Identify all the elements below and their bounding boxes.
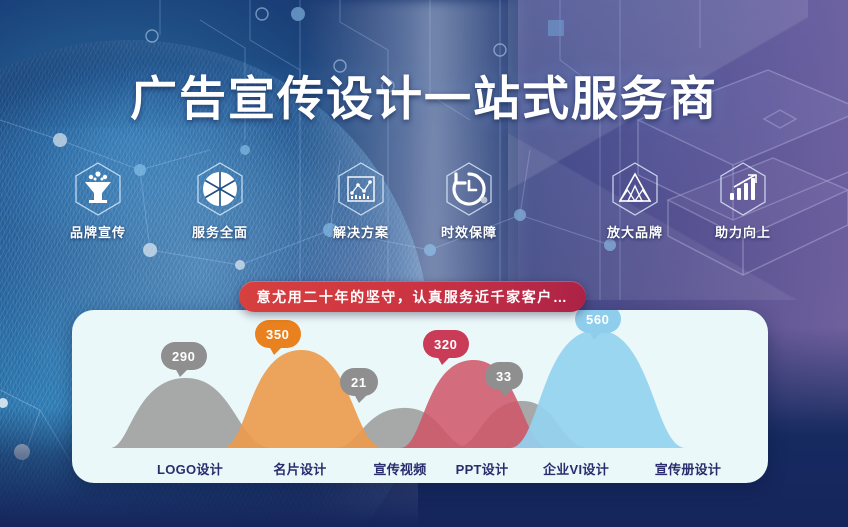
- page-title: 广告宣传设计一站式服务商: [0, 60, 848, 129]
- pyramid-icon: [592, 158, 678, 220]
- feature-item-growth[interactable]: 助力向上: [700, 158, 786, 241]
- feature-icon-row: 品牌宣传: [0, 158, 848, 248]
- value-bubble-2: 21: [340, 368, 378, 396]
- feature-label: 服务全面: [177, 222, 263, 241]
- feature-label: 时效保障: [426, 222, 512, 241]
- feature-label: 放大品牌: [592, 222, 678, 241]
- circuit-network-icon: [0, 0, 848, 300]
- banner-stage: 广告宣传设计一站式服务商 品牌宣传: [0, 0, 848, 527]
- x-label-3: PPT设计: [442, 459, 522, 478]
- x-label-4: 企业VI设计: [528, 459, 624, 478]
- line-chart-icon: [318, 158, 404, 220]
- x-label-0: LOGO设计: [150, 459, 230, 478]
- value-bubble-1: 350: [255, 320, 301, 348]
- bump-5: [510, 330, 686, 448]
- slogan-banner: 意尤用二十年的坚守，认真服务近千家客户…: [239, 281, 586, 312]
- clock-history-icon: [426, 158, 512, 220]
- feature-label: 解决方案: [318, 222, 404, 241]
- bump-chart-svg: [72, 310, 768, 450]
- value-bubble-0: 290: [161, 342, 207, 370]
- feature-item-timeliness[interactable]: 时效保障: [426, 158, 512, 241]
- x-label-2: 宣传视频: [360, 459, 440, 478]
- chart-card: 290 350 21 320 33 560 LOGO设计 名片设计 宣传视频 P…: [72, 310, 768, 483]
- value-bubble-5: 560: [575, 310, 621, 333]
- feature-label: 品牌宣传: [55, 222, 141, 241]
- x-label-5: 宣传册设计: [640, 459, 736, 478]
- feature-item-amplify[interactable]: 放大品牌: [592, 158, 678, 241]
- feature-item-solution[interactable]: 解决方案: [318, 158, 404, 241]
- value-bubble-3: 320: [423, 330, 469, 358]
- bar-growth-icon: [700, 158, 786, 220]
- chart-x-labels: LOGO设计 名片设计 宣传视频 PPT设计 企业VI设计 宣传册设计: [72, 453, 768, 483]
- trophy-icon: [55, 158, 141, 220]
- feature-label: 助力向上: [700, 222, 786, 241]
- value-bubble-4: 33: [485, 362, 523, 390]
- chart-bumps: [72, 310, 768, 450]
- aperture-icon: [177, 158, 263, 220]
- feature-item-service[interactable]: 服务全面: [177, 158, 263, 241]
- x-label-1: 名片设计: [260, 459, 340, 478]
- feature-item-brand[interactable]: 品牌宣传: [55, 158, 141, 241]
